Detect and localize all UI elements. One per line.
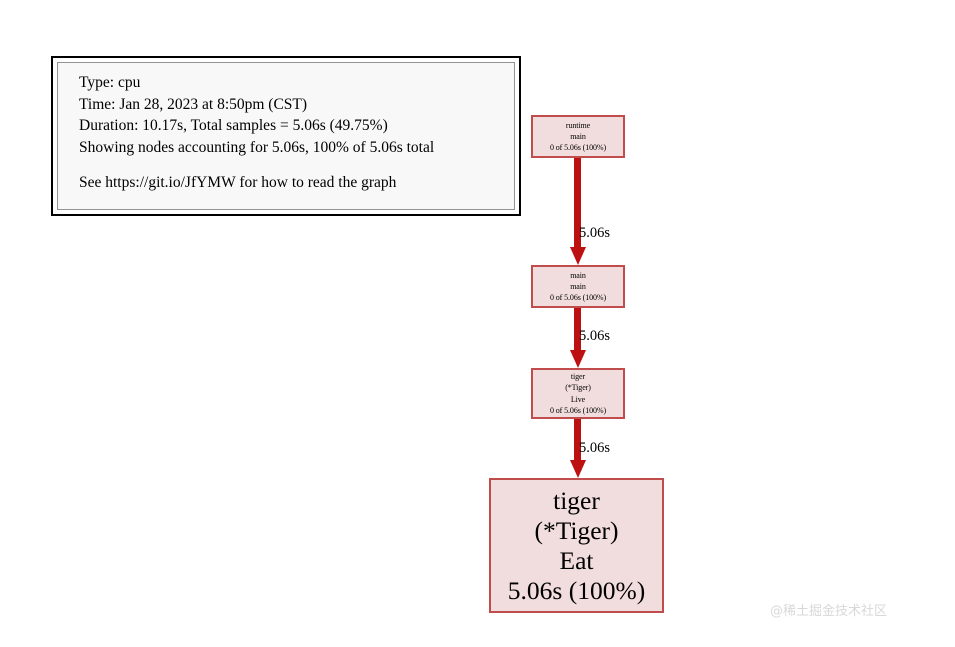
watermark: @稀土掘金技术社区 (770, 600, 887, 619)
legend-line-duration: Duration: 10.17s, Total samples = 5.06s … (79, 115, 514, 137)
node-line-stat: 0 of 5.06s (100%) (550, 292, 606, 303)
node-line-function: main (570, 281, 586, 292)
legend-line-showing: Showing nodes accounting for 5.06s, 100%… (79, 137, 514, 159)
node-line-package: tiger (571, 371, 585, 382)
graph-node-main-main[interactable]: main main 0 of 5.06s (100%) (531, 265, 625, 308)
profile-legend-inner: Type: cpu Time: Jan 28, 2023 at 8:50pm (… (57, 62, 515, 210)
graph-node-runtime-main[interactable]: runtime main 0 of 5.06s (100%) (531, 115, 625, 158)
node-line-package: runtime (566, 120, 590, 131)
edge-label: 5.06s (579, 329, 610, 344)
arrowhead-down-icon (570, 460, 586, 478)
node-line-function: Live (571, 394, 585, 405)
graph-node-tiger-live[interactable]: tiger (*Tiger) Live 0 of 5.06s (100%) (531, 368, 625, 419)
legend-line-time: Time: Jan 28, 2023 at 8:50pm (CST) (79, 94, 514, 116)
graph-node-tiger-eat[interactable]: tiger (*Tiger) Eat 5.06s (100%) (489, 478, 664, 613)
edge-label: 5.06s (579, 226, 610, 241)
edge-label: 5.06s (579, 441, 610, 456)
node-line-function: Eat (560, 546, 594, 576)
pprof-graph-canvas: Type: cpu Time: Jan 28, 2023 at 8:50pm (… (0, 0, 955, 647)
node-line-stat: 5.06s (100%) (508, 576, 645, 606)
profile-legend-box: Type: cpu Time: Jan 28, 2023 at 8:50pm (… (51, 56, 521, 216)
node-line-stat: 0 of 5.06s (100%) (550, 142, 606, 153)
arrowhead-down-icon (570, 350, 586, 368)
node-line-receiver: (*Tiger) (565, 382, 591, 393)
node-line-package: tiger (553, 486, 600, 516)
node-line-receiver: (*Tiger) (534, 516, 618, 546)
arrowhead-down-icon (570, 247, 586, 265)
node-line-stat: 0 of 5.06s (100%) (550, 405, 606, 416)
node-line-package: main (570, 270, 586, 281)
legend-line-type: Type: cpu (79, 72, 514, 94)
legend-spacer (79, 158, 514, 172)
node-line-function: main (570, 131, 586, 142)
legend-help-link[interactable]: See https://git.io/JfYMW for how to read… (79, 172, 514, 194)
